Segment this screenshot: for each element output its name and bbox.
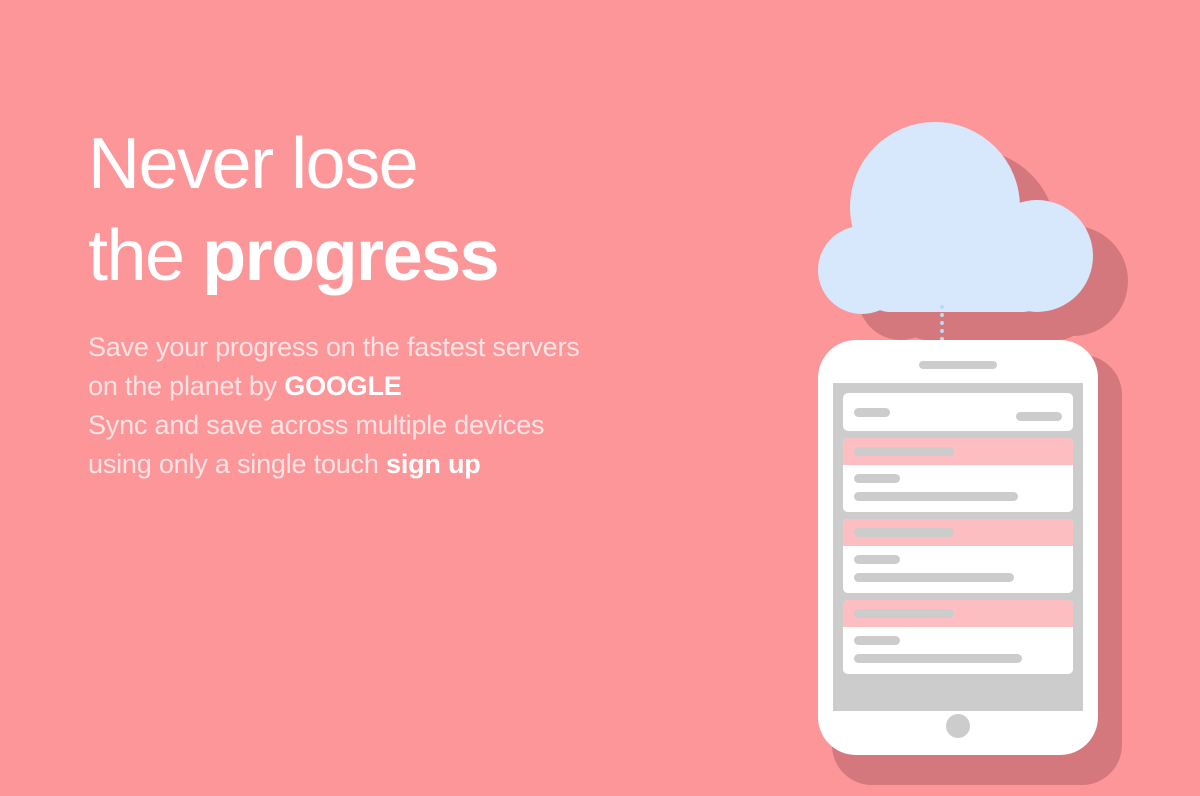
toolbar-row [843,393,1073,431]
placeholder-bar [1016,412,1062,421]
phone-mockup [818,340,1098,755]
placeholder-bar [854,474,900,483]
headline-line-1: Never lose [88,118,748,210]
card-header [843,600,1073,627]
bar-row [854,403,1062,421]
subcopy-line-4: using only a single touch sign up [88,445,748,484]
card-body [843,546,1073,593]
headline-line-2-bold: progress [202,216,498,296]
card-body [843,627,1073,674]
placeholder-bar [854,447,954,456]
placeholder-bar [854,408,890,417]
placeholder-bar [854,492,1018,501]
subcopy-block: Save your progress on the fastest server… [88,328,748,484]
list-item[interactable] [843,393,1073,431]
placeholder-bar [854,528,954,537]
headline-line-2: the progress [88,210,748,302]
subcopy-line-4-prefix: using only a single touch [88,449,386,479]
home-button[interactable] [946,714,970,738]
placeholder-bar [854,573,1014,582]
list-item[interactable] [843,600,1073,674]
list-item[interactable] [843,519,1073,593]
copy-block: Never lose the progress Save your progre… [88,118,748,484]
subcopy-line-2-prefix: on the planet by [88,371,284,401]
promo-banner: Never lose the progress Save your progre… [0,0,1200,796]
page-title: Never lose the progress [88,118,748,302]
card-header [843,519,1073,546]
illustration [780,100,1200,740]
card-header [843,438,1073,465]
placeholder-bar [854,609,954,618]
brand-name-google: GOOGLE [284,371,401,401]
placeholder-bar [854,654,1022,663]
subcopy-line-2: on the planet by GOOGLE [88,367,748,406]
placeholder-bar [854,555,900,564]
subcopy-line-1: Save your progress on the fastest server… [88,328,748,367]
subcopy-line-3: Sync and save across multiple devices [88,406,748,445]
headline-line-2-light: the [88,216,202,296]
phone-screen [833,383,1083,711]
card-body [843,465,1073,512]
cloud-icon [818,122,1093,310]
speaker-grille [919,361,997,369]
sign-up-link[interactable]: sign up [386,449,481,479]
placeholder-bar [854,636,900,645]
list-item[interactable] [843,438,1073,512]
